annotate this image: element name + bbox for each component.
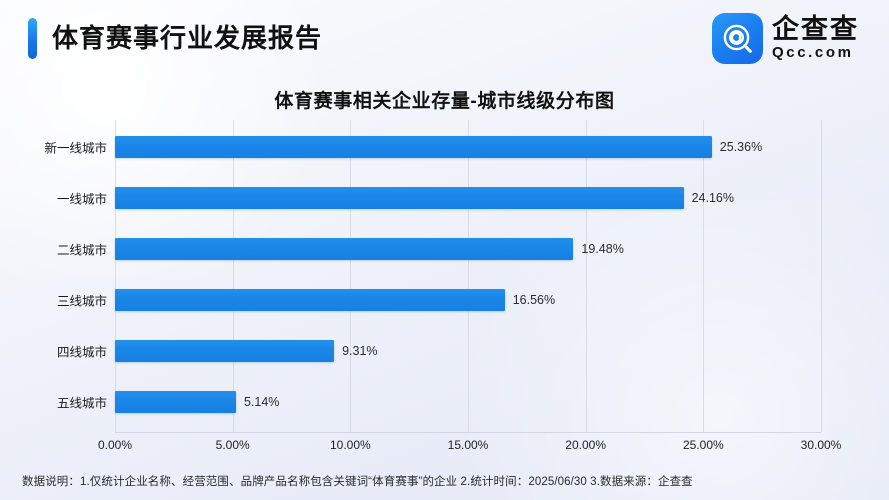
footer-note: 数据说明：1.仅统计企业名称、经营范围、品牌产品名称包含关键词“体育赛事”的企业… xyxy=(22,473,877,489)
x-axis-tick-label: 25.00% xyxy=(683,438,724,452)
gridline-6 xyxy=(821,120,822,432)
bar-value-label: 16.56% xyxy=(513,293,555,307)
x-axis-line xyxy=(115,432,821,433)
y-axis-label: 五线城市 xyxy=(57,393,107,412)
title-accent-bar xyxy=(28,18,37,59)
y-axis-label: 新一线城市 xyxy=(44,138,107,157)
x-axis-tick-label: 5.00% xyxy=(216,438,250,452)
brand-name-en: Qcc.com xyxy=(772,44,859,62)
bar-五线城市[interactable] xyxy=(115,391,236,413)
x-axis-tick-label: 10.00% xyxy=(330,438,371,452)
brand-name-cn: 企查查 xyxy=(772,15,859,43)
brand-logo-text: 企查查 Qcc.com xyxy=(772,15,859,62)
y-axis-label: 一线城市 xyxy=(57,189,107,208)
x-axis-tick-label: 30.00% xyxy=(801,438,842,452)
brand-logo[interactable]: 企查查 Qcc.com xyxy=(712,13,859,64)
report-title: 体育赛事行业发展报告 xyxy=(52,18,322,59)
y-axis-label: 四线城市 xyxy=(57,342,107,361)
qcc-logo-icon xyxy=(712,13,763,64)
chart-title: 体育赛事相关企业存量-城市线级分布图 xyxy=(0,86,889,113)
y-axis-label: 二线城市 xyxy=(57,240,107,259)
x-axis-tick-label: 0.00% xyxy=(98,438,132,452)
gridline-4 xyxy=(586,120,587,432)
bar-四线城市[interactable] xyxy=(115,340,334,362)
bar-新一线城市[interactable] xyxy=(115,136,712,158)
gridline-1 xyxy=(233,120,234,432)
bar-value-label: 25.36% xyxy=(720,140,762,154)
chart-plot-area: 新一线城市25.36%一线城市24.16%二线城市19.48%三线城市16.56… xyxy=(0,120,889,432)
x-axis-tick-label: 20.00% xyxy=(565,438,606,452)
x-axis-tick-label: 15.00% xyxy=(448,438,489,452)
gridline-3 xyxy=(468,120,469,432)
bar-value-label: 19.48% xyxy=(581,242,623,256)
bar-二线城市[interactable] xyxy=(115,238,573,260)
gridline-2 xyxy=(350,120,351,432)
bar-一线城市[interactable] xyxy=(115,187,684,209)
gridline-5 xyxy=(703,120,704,432)
page-header: 体育赛事行业发展报告 企查查 Qcc.com xyxy=(0,0,889,78)
bar-value-label: 9.31% xyxy=(342,344,377,358)
bar-value-label: 5.14% xyxy=(244,395,279,409)
y-axis-label: 三线城市 xyxy=(57,291,107,310)
bar-三线城市[interactable] xyxy=(115,289,505,311)
gridline-0 xyxy=(115,120,116,432)
bar-value-label: 24.16% xyxy=(692,191,734,205)
